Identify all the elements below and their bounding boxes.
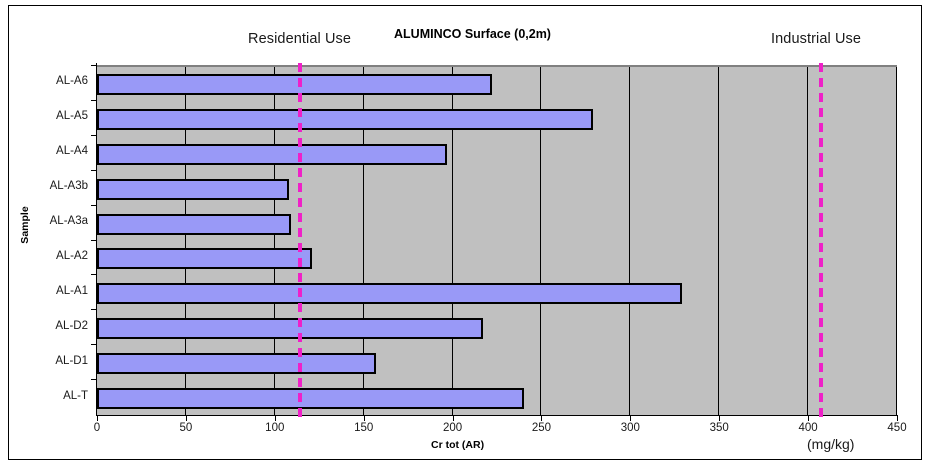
y-axis-label-al-a6: AL-A6 [9, 75, 88, 87]
x-axis-label-350: 350 [689, 422, 749, 434]
y-axis-label-al-a1: AL-A1 [9, 285, 88, 297]
bar-al-a3b [97, 179, 289, 200]
x-axis-label-50: 50 [156, 422, 216, 434]
gridline [896, 67, 897, 416]
y-axis-tick [91, 135, 96, 136]
x-axis-label-250: 250 [511, 422, 571, 434]
y-axis-label-al-a3b: AL-A3b [9, 180, 88, 192]
y-axis-line [96, 63, 97, 416]
y-axis-tick [91, 344, 96, 345]
y-axis-tick [91, 309, 96, 310]
y-axis-label-al-d1: AL-D1 [9, 355, 88, 367]
bar-al-a2 [97, 248, 312, 269]
bar-al-a4 [97, 144, 447, 165]
x-axis-label-0: 0 [67, 422, 127, 434]
gridline [718, 67, 719, 416]
y-axis-tick [91, 205, 96, 206]
chart-title: ALUMINCO Surface (0,2m) [394, 27, 551, 41]
bar-al-a1 [97, 283, 682, 304]
x-axis-tick [541, 416, 542, 421]
y-axis-title: Sample [19, 195, 31, 255]
units-label: (mg/kg) [807, 436, 854, 452]
bar-al-d2 [97, 318, 483, 339]
plot-area [97, 65, 897, 416]
bar-al-a6 [97, 74, 492, 95]
x-axis-tick [453, 416, 454, 421]
y-axis-tick [91, 65, 96, 66]
x-axis-label-200: 200 [423, 422, 483, 434]
x-axis-tick [719, 416, 720, 421]
x-axis-title: Cr tot (AR) [431, 439, 484, 451]
residential-use-label: Residential Use [248, 31, 351, 47]
chart-frame: Residential Use Industrial Use ALUMINCO … [8, 5, 922, 460]
x-axis-tick [630, 416, 631, 421]
bar-al-a5 [97, 109, 593, 130]
x-axis-tick [275, 416, 276, 421]
x-axis-tick [364, 416, 365, 421]
y-axis-label-al-a4: AL-A4 [9, 145, 88, 157]
x-axis-tick [186, 416, 187, 421]
x-axis-line [96, 415, 898, 416]
y-axis-tick [91, 240, 96, 241]
y-axis-label-al-d2: AL-D2 [9, 320, 88, 332]
industrial-use-label: Industrial Use [771, 31, 861, 47]
y-axis-label-al-t: AL-T [9, 390, 88, 402]
industrial-use-threshold-line [819, 63, 823, 419]
gridline [629, 67, 630, 416]
x-axis-tick [808, 416, 809, 421]
x-axis-label-450: 450 [867, 422, 927, 434]
gridline [807, 67, 808, 416]
x-axis-label-400: 400 [778, 422, 838, 434]
bar-al-d1 [97, 353, 376, 374]
x-axis-label-150: 150 [334, 422, 394, 434]
x-axis-tick [97, 416, 98, 421]
y-axis-label-al-a5: AL-A5 [9, 110, 88, 122]
bar-al-a3a [97, 214, 291, 235]
y-axis-tick [91, 379, 96, 380]
bar-al-t [97, 388, 524, 409]
x-axis-label-100: 100 [245, 422, 305, 434]
residential-use-threshold-line [298, 63, 302, 419]
x-axis-label-300: 300 [600, 422, 660, 434]
y-axis-tick [91, 170, 96, 171]
x-axis-tick [897, 416, 898, 421]
y-axis-tick [91, 274, 96, 275]
y-axis-tick [91, 100, 96, 101]
